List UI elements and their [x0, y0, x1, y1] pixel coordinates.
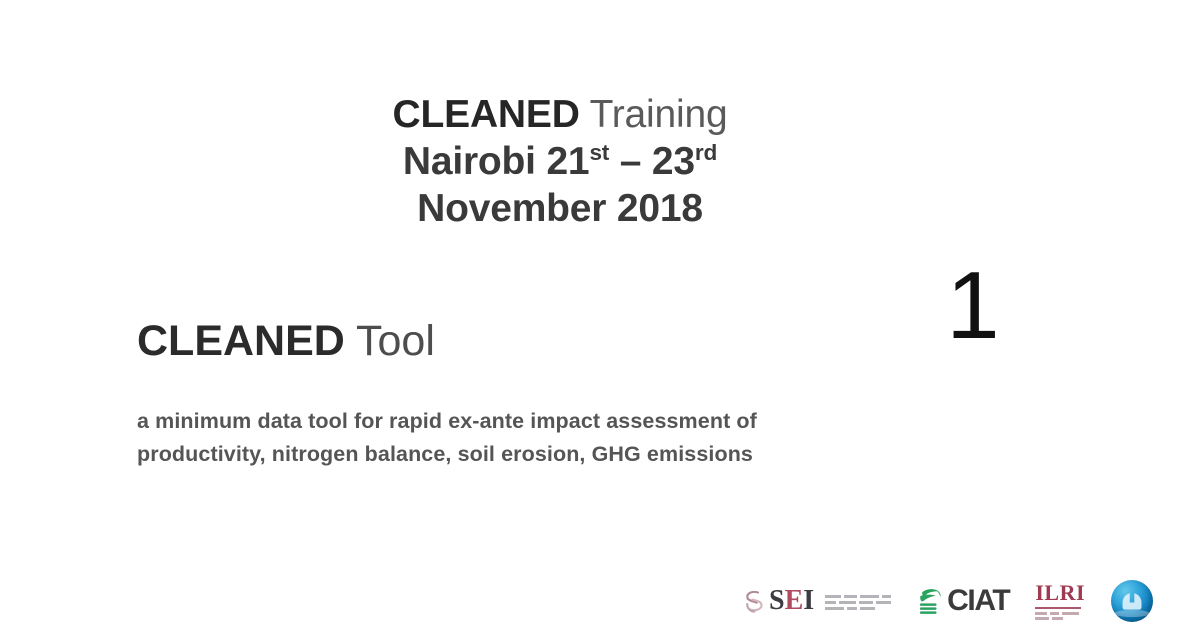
- page-title-rest: Tool: [345, 317, 435, 365]
- sei-logo: SEI: [744, 578, 891, 624]
- sei-letter-i: I: [803, 585, 814, 616]
- ilri-wordmark: ILRI: [1035, 582, 1085, 604]
- slide-header: CLEANED Training Nairobi 21st – 23rd Nov…: [300, 92, 820, 232]
- page-subtitle: a minimum data tool for rapid ex-ante im…: [137, 405, 1017, 472]
- sei-swirl-icon: [744, 588, 765, 614]
- sei-tagline-microtext: [825, 593, 891, 610]
- slide-number: 1: [918, 258, 1028, 354]
- header-date-line: Nairobi 21st – 23rd: [300, 139, 820, 186]
- ilri-tagline-microtext: [1035, 612, 1079, 620]
- globe-logo: [1111, 578, 1153, 626]
- ciat-wordmark: CIAT: [947, 586, 1009, 616]
- ciat-logo: CIAT: [917, 578, 1009, 624]
- sei-wordmark: SEI: [769, 587, 814, 615]
- ilri-rule: [1035, 607, 1081, 609]
- header-month-line: November 2018: [300, 186, 820, 233]
- partner-logo-strip: SEI C: [744, 578, 1153, 628]
- page-title: CLEANED Tool: [137, 318, 435, 365]
- header-event-rest: Training: [580, 93, 728, 136]
- sei-letter-s: S: [769, 585, 785, 616]
- page-subtitle-line-1: a minimum data tool for rapid ex-ante im…: [137, 405, 1017, 438]
- header-date-ordinal-second: rd: [695, 140, 717, 165]
- header-event-line: CLEANED Training: [300, 92, 820, 139]
- ciat-leaf-icon: [917, 586, 944, 616]
- presentation-slide: CLEANED Training Nairobi 21st – 23rd Nov…: [0, 0, 1200, 628]
- sei-letter-e: E: [785, 585, 804, 616]
- ilri-logo: ILRI: [1035, 578, 1085, 628]
- header-date-prefix: Nairobi 21: [403, 140, 590, 183]
- page-title-strong: CLEANED: [137, 317, 345, 365]
- header-date-ordinal-first: st: [589, 140, 609, 165]
- page-subtitle-line-2: productivity, nitrogen balance, soil ero…: [137, 438, 1017, 471]
- header-event-strong: CLEANED: [393, 93, 580, 136]
- globe-icon: [1111, 580, 1153, 622]
- header-date-dash: – 23: [609, 140, 695, 183]
